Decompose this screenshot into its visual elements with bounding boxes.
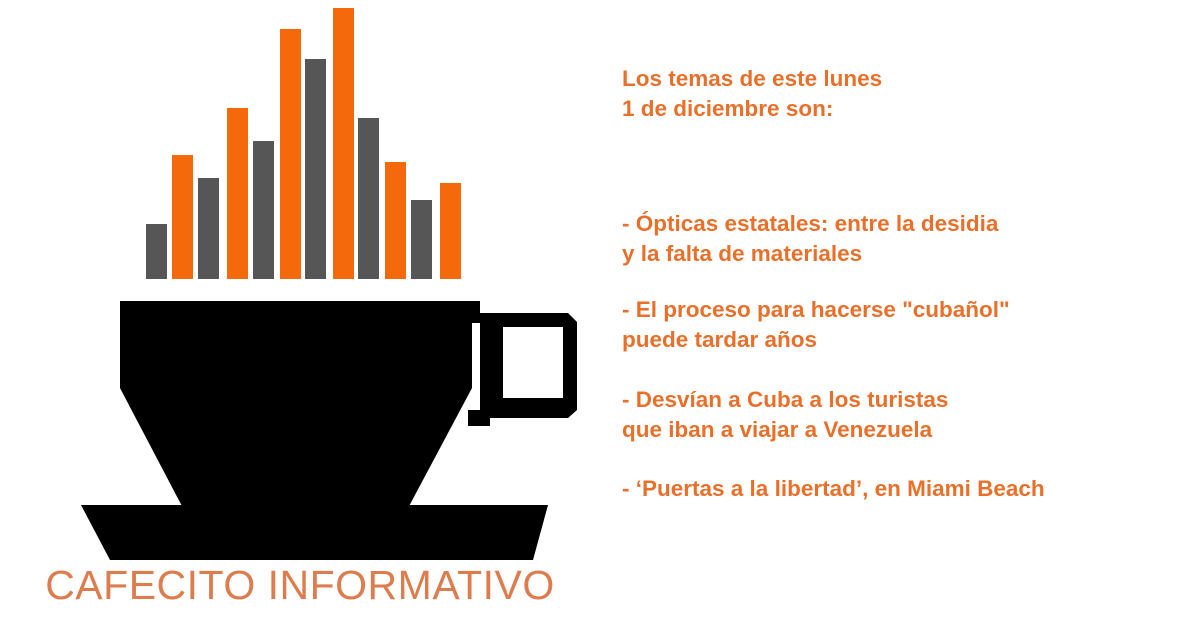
cup-body	[120, 301, 472, 510]
topic-item: - Ópticas estatales: entre la desidia y …	[622, 209, 998, 269]
bar-chart-bar	[253, 141, 274, 279]
topic-item: - Desvían a Cuba a los turistas que iban…	[622, 385, 948, 445]
bar-chart-bar	[411, 200, 432, 279]
cup-rim	[120, 301, 480, 323]
cup-saucer	[81, 505, 548, 560]
topic-item: - El proceso para hacerse "cubañol" pued…	[622, 295, 1010, 355]
cup-handle-hole	[503, 327, 563, 398]
bar-chart-bar	[172, 155, 193, 279]
bar-chart-bar	[358, 118, 379, 279]
bar-chart-bar	[440, 183, 461, 279]
bar-chart-bar	[280, 29, 301, 279]
headline: Los temas de este lunes 1 de diciembre s…	[622, 64, 882, 124]
bar-chart-bar	[146, 224, 167, 279]
bar-chart-bar	[198, 178, 219, 279]
topic-item: - ‘Puertas a la libertad’, en Miami Beac…	[622, 474, 1045, 504]
brand-wordmark: CAFECITO INFORMATIVO	[0, 562, 600, 609]
bar-chart-bar	[227, 108, 248, 279]
bar-chart-bar	[305, 59, 326, 279]
coffee-cup-icon	[60, 292, 590, 572]
cafecito-logo: CAFECITO INFORMATIVO	[0, 0, 600, 628]
bar-chart-bar	[333, 8, 354, 279]
poster-canvas: CAFECITO INFORMATIVO Los temas de este l…	[0, 0, 1200, 628]
topics-panel: Los temas de este lunes 1 de diciembre s…	[622, 0, 1182, 628]
bar-chart	[0, 0, 600, 279]
bar-chart-bar	[385, 162, 406, 279]
